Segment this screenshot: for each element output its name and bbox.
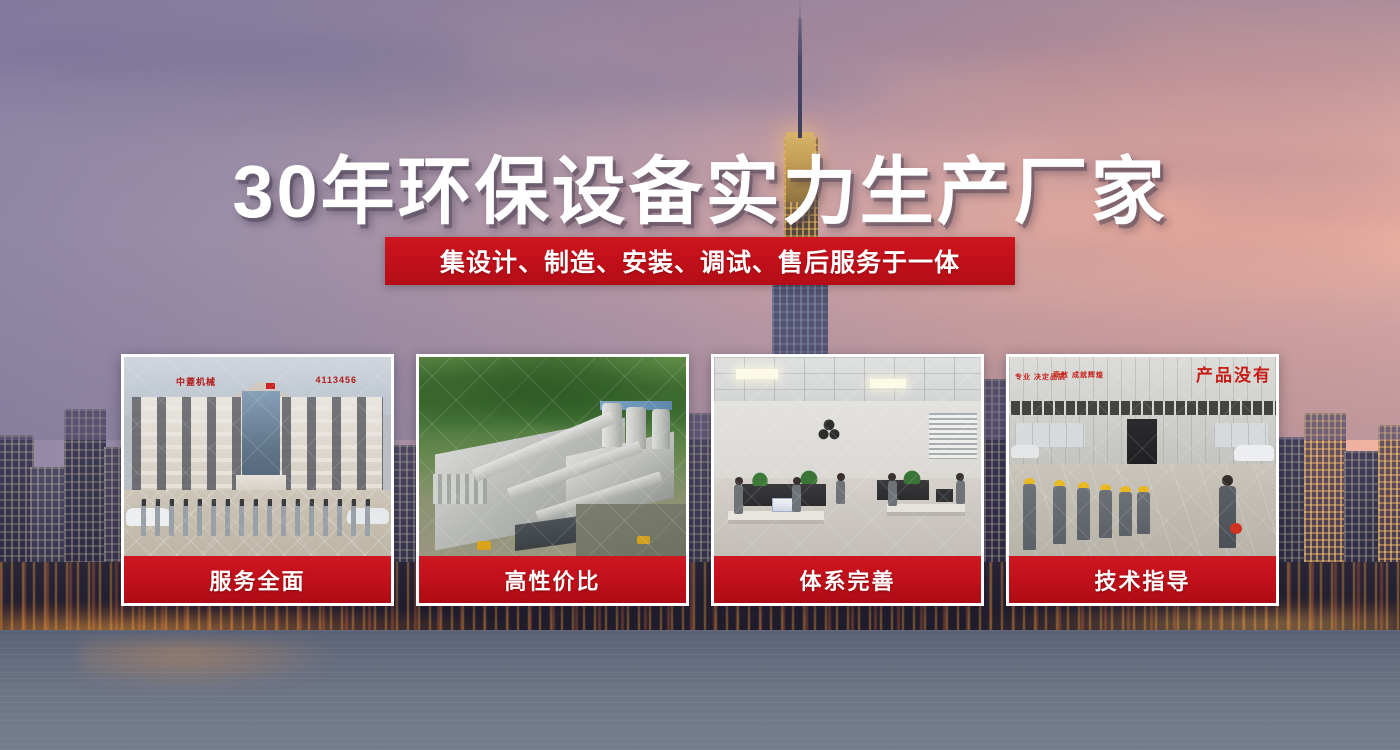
excavator [637, 536, 650, 544]
seated-employee [836, 480, 845, 504]
card-label-guidance: 技术指导 [1009, 556, 1276, 603]
potted-plant [750, 470, 770, 486]
worker-figure [1023, 484, 1036, 550]
hardhat-icon [1054, 480, 1065, 486]
company-headquarters-photo: 中蓋机械 4113456 [124, 357, 391, 556]
office-desk [887, 504, 965, 512]
hardhat-icon [1078, 482, 1089, 488]
promotional-banner: 30年环保设备实力生产厂家 集设计、制造、安装、调试、售后服务于一体 中蓋机械 … [0, 0, 1400, 750]
factory-wall-slogan-left2: 高效 成就辉煌 [1053, 371, 1104, 380]
factory-window [1015, 423, 1085, 447]
staff-heads [138, 499, 377, 506]
potted-plant [901, 468, 923, 484]
hardhat-icon [1120, 486, 1131, 492]
feature-card-guidance[interactable]: 产品没有 专业 决定品质 高效 成就辉煌 [1006, 354, 1279, 606]
potted-plant [798, 468, 820, 484]
ceiling-light [736, 369, 778, 379]
card-label-value: 高性价比 [419, 556, 686, 603]
card-label-service: 服务全面 [124, 556, 391, 603]
feature-card-system[interactable]: 体系完善 [711, 354, 984, 606]
factory-door [1127, 419, 1157, 465]
seated-employee [956, 480, 965, 504]
office-window [929, 413, 977, 459]
feature-card-value[interactable]: 高性价比 [416, 354, 689, 606]
feature-card-service[interactable]: 中蓋机械 4113456 服务全面 [121, 354, 394, 606]
seated-employee [792, 484, 801, 512]
parked-car [1011, 445, 1039, 458]
factory-window [1214, 423, 1268, 447]
subtitle-text: 集设计、制造、安装、调试、售后服务于一体 [440, 243, 960, 279]
instructor-head [1222, 475, 1233, 486]
worker-figure [1053, 486, 1066, 544]
employee-head [837, 473, 845, 481]
employee-head [735, 477, 743, 485]
hardhat-icon [1100, 484, 1111, 490]
hardhat-icon [1024, 478, 1035, 484]
workshop-training-photo: 产品没有 专业 决定品质 高效 成就辉煌 [1009, 357, 1276, 556]
employee-head [888, 473, 896, 481]
employee-head [956, 473, 964, 481]
worker-figure [1137, 492, 1150, 534]
seated-employee [734, 484, 743, 514]
water-reflection [80, 640, 340, 690]
tower-antenna [799, 0, 801, 50]
worker-figure [1099, 490, 1112, 538]
desk-monitor [772, 498, 794, 512]
aerial-plant-photo [419, 357, 686, 556]
office-interior-photo [714, 357, 981, 556]
page-title: 30年环保设备实力生产厂家 [0, 132, 1400, 239]
ceiling-light [870, 379, 906, 388]
instructor-figure [1219, 486, 1236, 548]
employee-head [793, 477, 801, 485]
desk-monitor [936, 489, 953, 502]
factory-wall-slogan: 产品没有 [1196, 361, 1272, 386]
subtitle-banner: 集设计、制造、安装、调试、售后服务于一体 [385, 237, 1015, 285]
worker-figure [1119, 492, 1132, 536]
hardhat-icon [1138, 486, 1149, 492]
seated-employee [888, 480, 897, 506]
wall-decal [812, 415, 846, 441]
building-phone-number: 4113456 [315, 375, 357, 385]
worker-figure [1077, 488, 1090, 540]
building-signage: 中蓋机械 [176, 375, 216, 388]
parked-car [1234, 445, 1274, 461]
red-helmet-icon [1230, 523, 1242, 534]
flag-icon [266, 383, 275, 389]
card-label-system: 体系完善 [714, 556, 981, 603]
feature-card-row: 中蓋机械 4113456 服务全面 [121, 354, 1279, 606]
storage-silo [652, 409, 670, 449]
excavator [477, 541, 491, 550]
